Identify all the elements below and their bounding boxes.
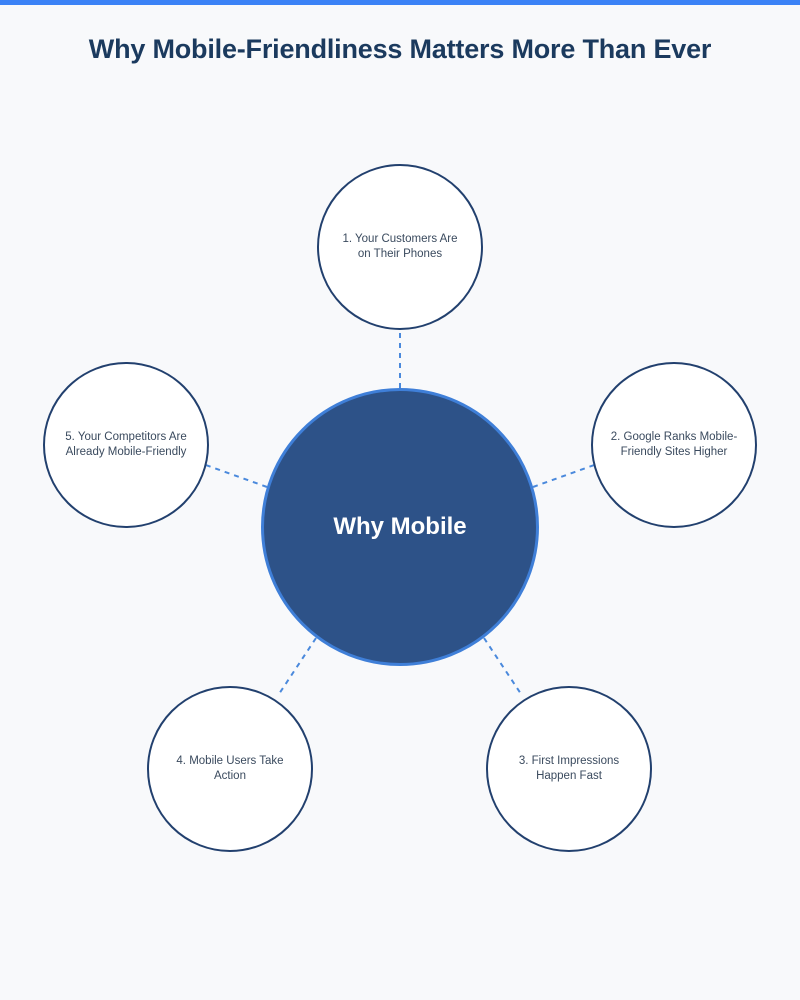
diagram-node-1-label: 1. Your Customers Are on Their Phones	[319, 232, 481, 262]
connector-center-to-node-2	[533, 464, 597, 487]
diagram-center-node-label: Why Mobile	[333, 513, 466, 541]
diagram-node-3[interactable]: 3. First Impressions Happen Fast	[486, 686, 652, 852]
diagram-node-4-label: 4. Mobile Users Take Action	[149, 754, 311, 784]
diagram-center-node[interactable]: Why Mobile	[261, 388, 539, 666]
connector-center-to-node-3	[484, 638, 521, 694]
diagram-node-3-label: 3. First Impressions Happen Fast	[488, 754, 650, 784]
diagram-node-5[interactable]: 5. Your Competitors Are Already Mobile-F…	[43, 362, 209, 528]
connector-center-to-node-4	[279, 638, 316, 694]
diagram-node-4[interactable]: 4. Mobile Users Take Action	[147, 686, 313, 852]
diagram-node-1[interactable]: 1. Your Customers Are on Their Phones	[317, 164, 483, 330]
diagram-node-2[interactable]: 2. Google Ranks Mobile-Friendly Sites Hi…	[591, 362, 757, 528]
diagram-node-2-label: 2. Google Ranks Mobile-Friendly Sites Hi…	[593, 430, 755, 460]
diagram-node-5-label: 5. Your Competitors Are Already Mobile-F…	[45, 430, 207, 460]
connector-center-to-node-5	[203, 464, 267, 487]
hub-and-spoke-diagram: 1. Your Customers Are on Their Phones 2.…	[0, 0, 800, 1000]
